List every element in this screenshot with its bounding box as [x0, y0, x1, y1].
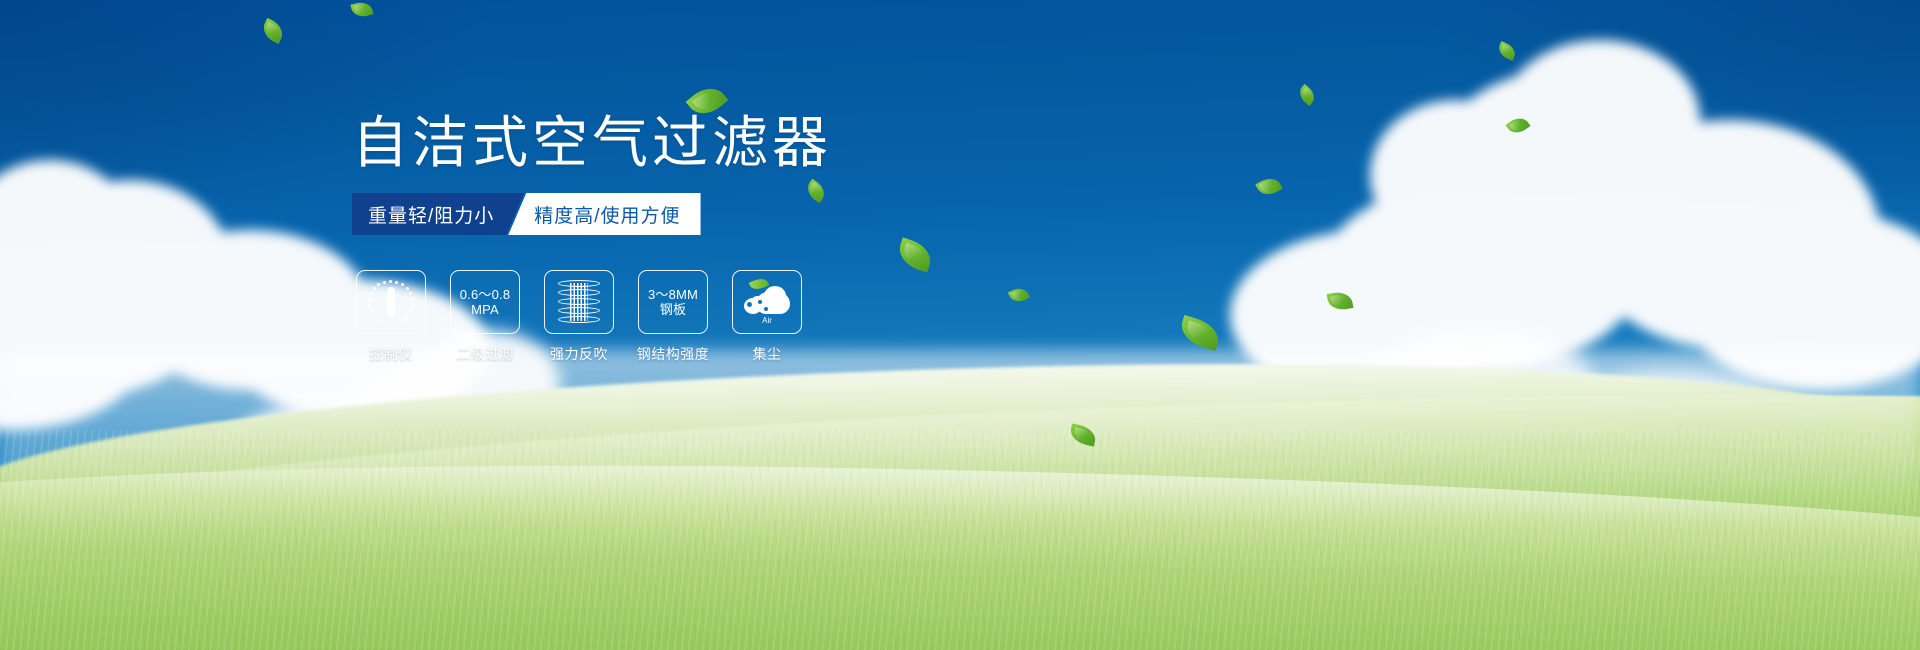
air-label: Air — [742, 316, 792, 325]
feature-item-backblow[interactable]: 强力反吹 — [544, 270, 614, 364]
tag-group: 重量轻/阻力小 精度高/使用方便 — [352, 193, 701, 235]
gauge-label-no: NO — [367, 298, 375, 304]
banner-content: 自洁式空气过滤器 重量轻/阻力小 精度高/使用方便 — [0, 0, 1920, 650]
feature-caption: 控制仪 — [369, 344, 413, 364]
steel-value-line1: 3～8MM — [648, 287, 698, 302]
feature-caption: 钢结构强度 — [637, 344, 710, 364]
feature-caption: 二级过滤 — [456, 344, 514, 364]
feature-item-controller[interactable]: NO OFF 控制仪 — [356, 270, 426, 364]
feature-caption: 强力反吹 — [550, 344, 608, 364]
filter-cartridge-icon — [558, 280, 600, 324]
page-title: 自洁式空气过滤器 — [352, 112, 832, 174]
feature-caption: 集尘 — [753, 344, 782, 364]
air-cloud-icon: Air — [742, 282, 792, 322]
feature-icon-box: NO OFF — [356, 270, 426, 334]
gauge-label-off: OFF — [403, 317, 414, 323]
gauge-needle — [387, 287, 395, 317]
feature-icon-box: 0.6～0.8 MPA — [450, 270, 520, 334]
feature-item-steel-strength[interactable]: 3～8MM 钢板 钢结构强度 — [638, 270, 708, 364]
pressure-value-line1: 0.6～0.8 — [460, 287, 511, 302]
feature-list: NO OFF 控制仪 0.6～0.8 MPA 二级过滤 — [356, 270, 802, 364]
feature-item-dust-collection[interactable]: Air 集尘 — [732, 270, 802, 364]
steel-value-line2: 钢板 — [660, 302, 686, 317]
gauge-icon: NO OFF — [368, 280, 414, 324]
feature-icon-box: 3～8MM 钢板 — [638, 270, 708, 334]
product-banner: 自洁式空气过滤器 重量轻/阻力小 精度高/使用方便 — [0, 0, 1920, 650]
feature-icon-box: Air — [732, 270, 802, 334]
pressure-value-line2: MPA — [471, 302, 499, 317]
tag-precision[interactable]: 精度高/使用方便 — [508, 193, 700, 235]
tag-lightweight[interactable]: 重量轻/阻力小 — [352, 193, 524, 235]
feature-item-secondary-filtration[interactable]: 0.6～0.8 MPA 二级过滤 — [450, 270, 520, 364]
feature-icon-box — [544, 270, 614, 334]
